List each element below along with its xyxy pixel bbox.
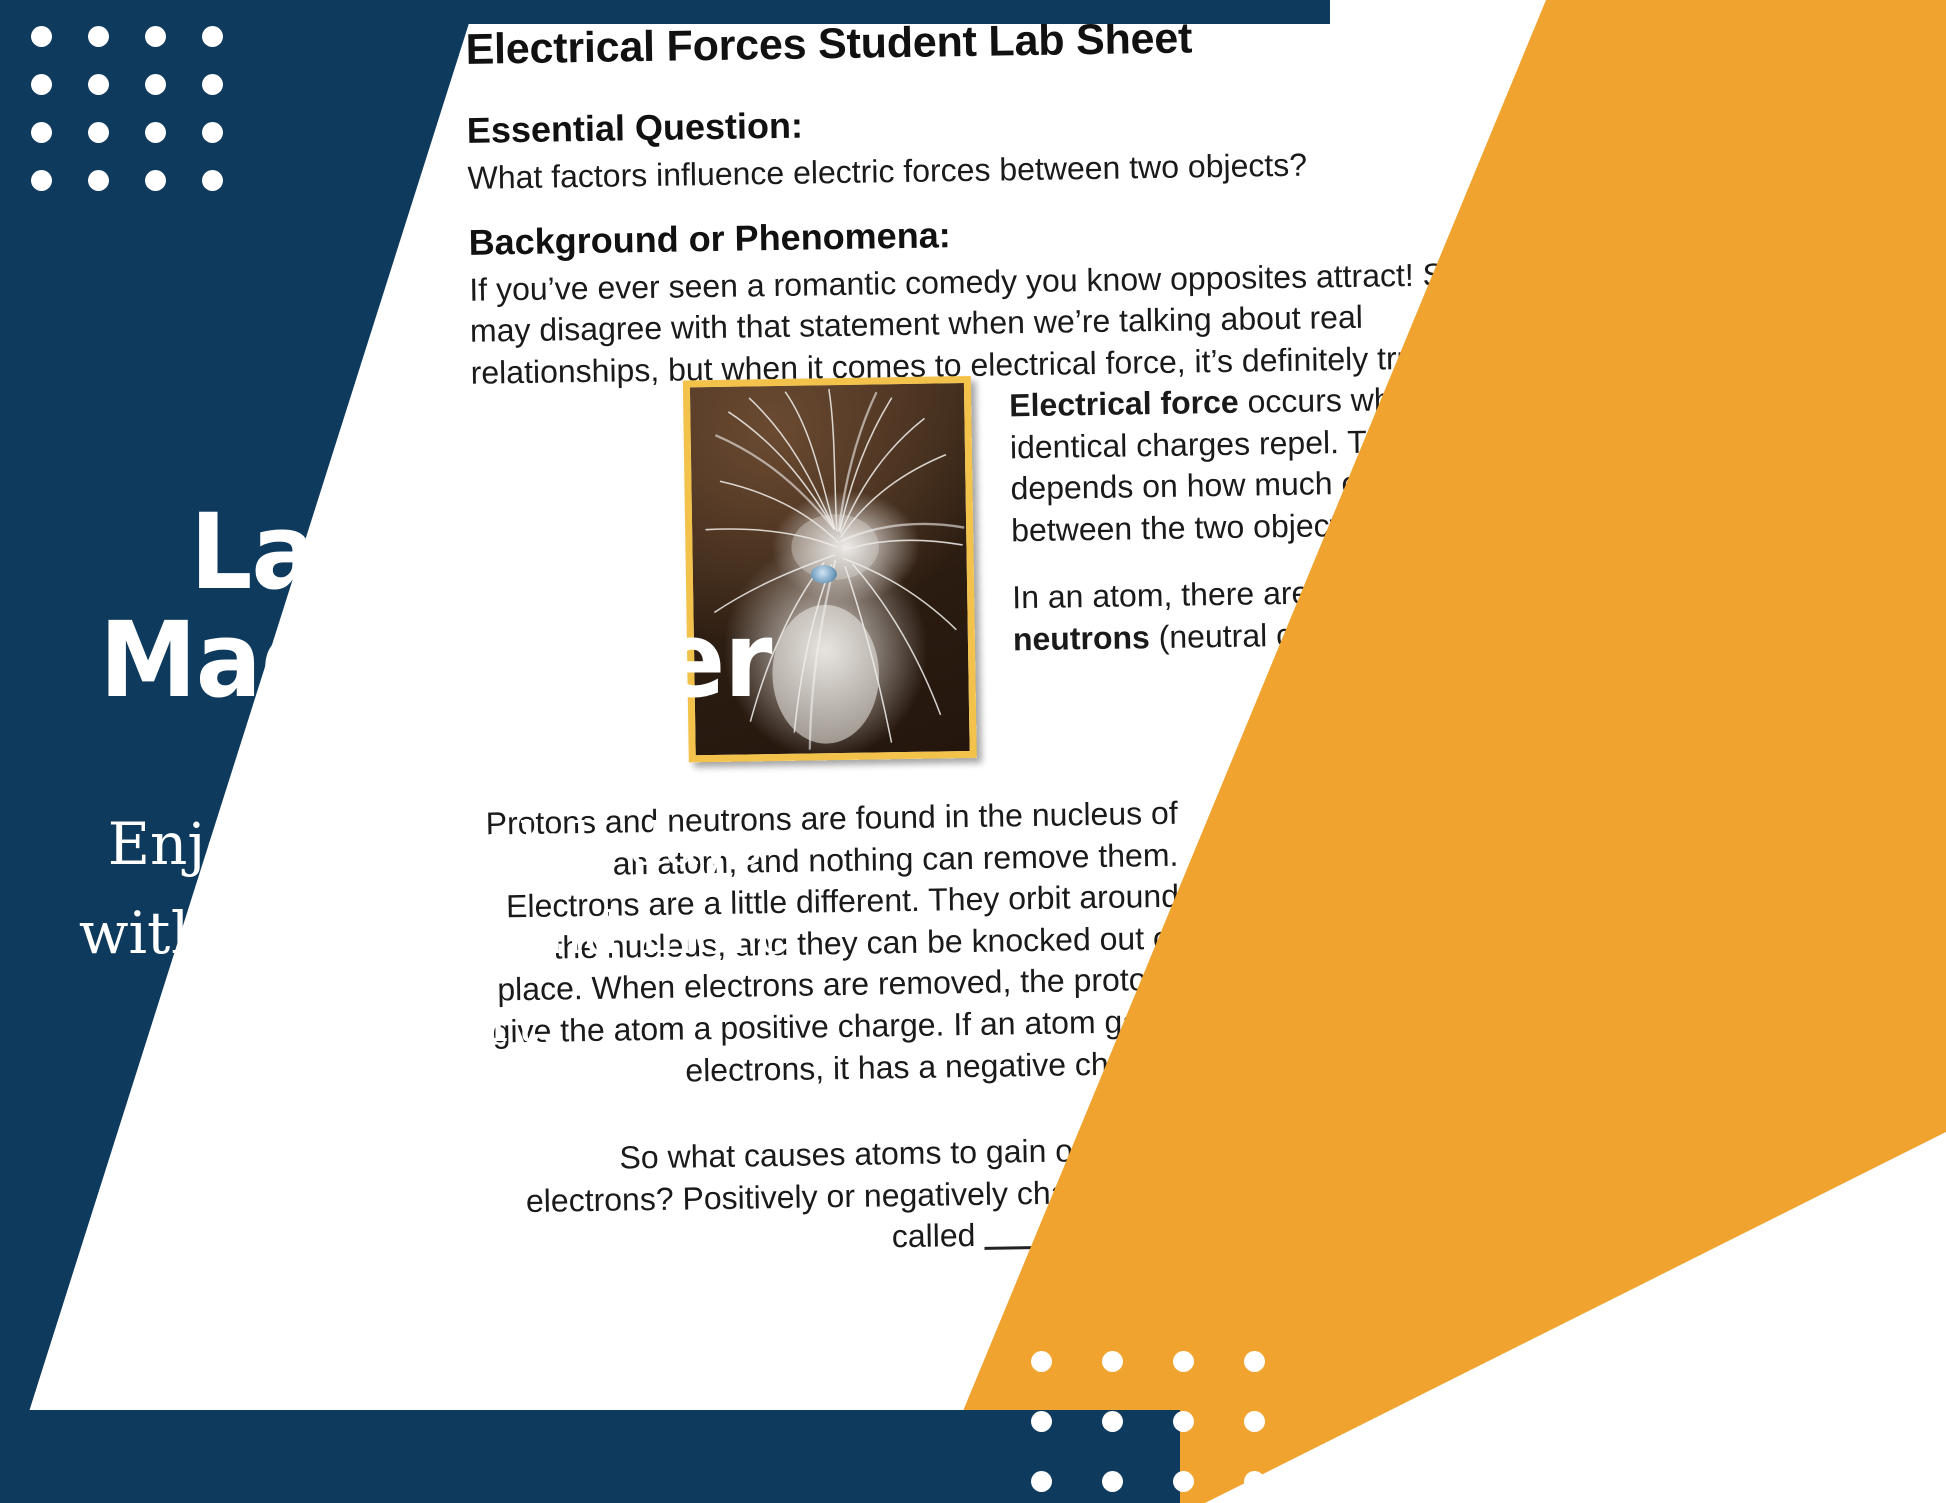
decorative-dot	[1244, 1351, 1265, 1372]
decorative-dot	[88, 122, 109, 143]
decorative-dot	[1244, 1471, 1265, 1492]
promotional-graphic: Electrical Forces Student Lab Sheet Esse…	[0, 0, 1946, 1503]
decorative-dot	[1102, 1471, 1123, 1492]
dot-grid-bottom-center	[1031, 1351, 1315, 1503]
decorative-dot	[1244, 1411, 1265, 1432]
decorative-dot	[1173, 1351, 1194, 1372]
decorative-dot	[1102, 1411, 1123, 1432]
decorative-dot	[145, 26, 166, 47]
navy-bottom-strip	[0, 1410, 1180, 1503]
navy-diagonal-panel	[0, 0, 1946, 1503]
decorative-dot	[1031, 1411, 1052, 1432]
decorative-dot	[202, 74, 223, 95]
decorative-dot	[31, 26, 52, 47]
decorative-dot	[202, 26, 223, 47]
decorative-dot	[1173, 1411, 1194, 1432]
decorative-dot	[88, 170, 109, 191]
dot-grid-top-left	[31, 26, 259, 218]
decorative-dot	[88, 26, 109, 47]
decorative-dot	[1102, 1351, 1123, 1372]
decorative-dot	[1173, 1471, 1194, 1492]
decorative-dot	[145, 170, 166, 191]
decorative-dot	[31, 74, 52, 95]
decorative-dot	[31, 170, 52, 191]
decorative-dot	[31, 122, 52, 143]
decorative-dot	[145, 74, 166, 95]
decorative-dot	[88, 74, 109, 95]
decorative-dot	[202, 170, 223, 191]
decorative-dot	[1031, 1471, 1052, 1492]
decorative-dot	[202, 122, 223, 143]
decorative-dot	[1031, 1351, 1052, 1372]
decorative-dot	[145, 122, 166, 143]
